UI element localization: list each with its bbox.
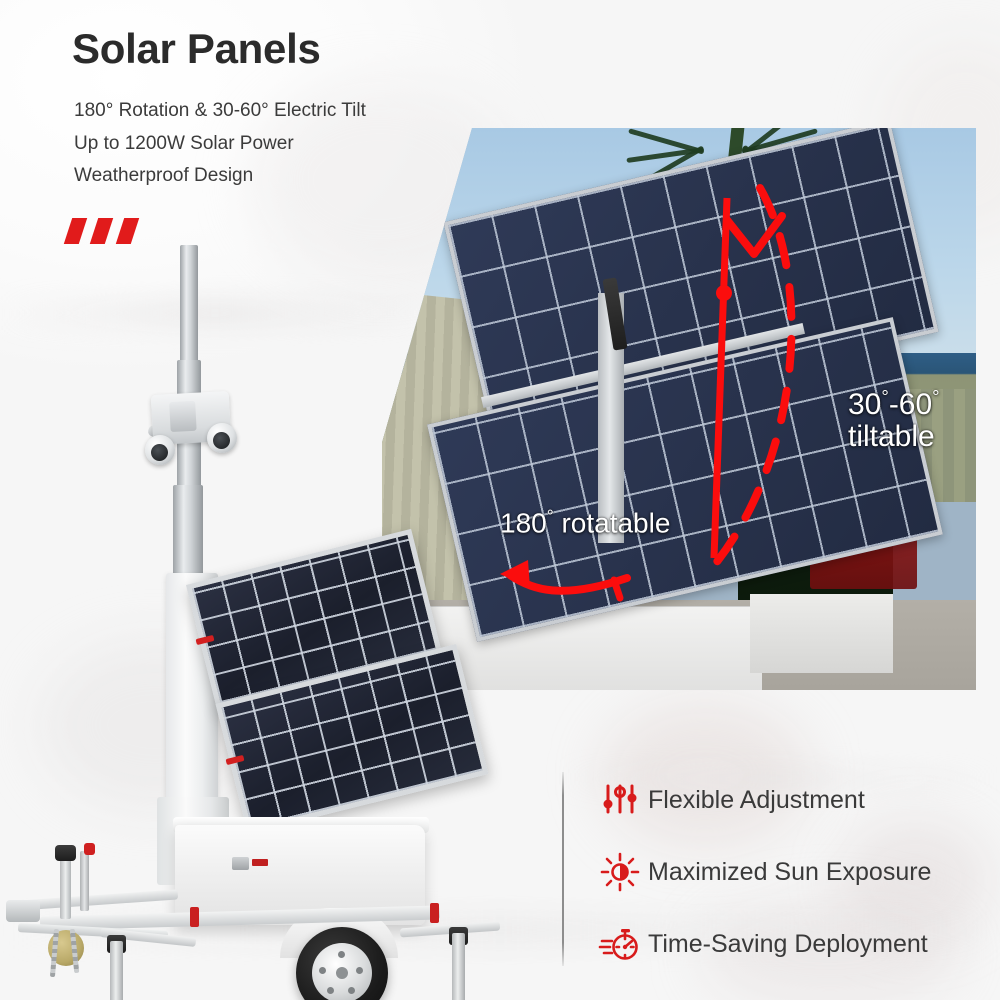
camera-lens-icon [151, 444, 168, 461]
camera-lens-icon [213, 432, 230, 449]
trailer-equipment-box-secondary [750, 594, 893, 673]
box-warning-label [252, 859, 268, 866]
safety-post [80, 851, 89, 911]
annotation-tilt-range: 30°-60° [848, 386, 940, 422]
degree-symbol: ° [881, 386, 888, 407]
sun-icon [592, 848, 648, 896]
degree-symbol: ° [547, 506, 554, 526]
subtitle-list: 180° Rotation & 30-60° Electric Tilt Up … [74, 95, 494, 193]
tilt-max: -60 [889, 388, 932, 421]
degree-symbol: ° [932, 386, 939, 407]
wheel-rim [312, 943, 372, 1000]
subtitle-line-2: Up to 1200W Solar Power [74, 128, 494, 161]
feature-item-time-saving-deployment: Time-Saving Deployment [592, 908, 992, 980]
sliders-icon [592, 776, 648, 824]
rotate-word: rotatable [554, 507, 671, 538]
wheel-lug [356, 967, 363, 974]
annotation-rotatable: 180° rotatable [500, 506, 670, 539]
feature-label: Time-Saving Deployment [648, 930, 928, 959]
tilt-min: 30 [848, 388, 881, 421]
wheel-hub [336, 967, 348, 979]
feature-label: Flexible Adjustment [648, 786, 865, 815]
feature-item-flexible-adjustment: Flexible Adjustment [592, 764, 992, 836]
hitch-coupler [6, 900, 40, 922]
feature-list: Flexible Adjustment Maximized Sun Exposu… [592, 764, 992, 980]
ptz-dome-camera-left [145, 435, 175, 465]
mast-section-top [180, 245, 198, 365]
subtitle-line-1: 180° Rotation & 30-60° Electric Tilt [74, 95, 494, 128]
red-pin-clip [190, 907, 199, 927]
feature-item-maximized-sun-exposure: Maximized Sun Exposure [592, 836, 992, 908]
stopwatch-icon [592, 920, 648, 968]
feature-list-divider [562, 772, 564, 966]
feature-label: Maximized Sun Exposure [648, 858, 931, 887]
box-latch [232, 857, 249, 870]
marketing-banner: Solar Panels 180° Rotation & 30-60° Elec… [0, 0, 1000, 1000]
thermal-lens [169, 401, 197, 432]
wheel-lug [338, 951, 345, 958]
wheel-lug [327, 987, 334, 994]
trailer-tongue-rail-upper [18, 889, 178, 910]
product-photo-trailer [0, 185, 520, 1000]
stabilizer-leg-right [452, 933, 465, 1000]
red-release-knob [84, 843, 95, 855]
page-title: Solar Panels [72, 28, 321, 70]
red-pin-clip [430, 903, 439, 923]
ptz-dome-camera-right [207, 423, 237, 453]
tongue-jack [60, 857, 71, 919]
wheel-lug [319, 967, 326, 974]
annotation-tiltable-word: tiltable [848, 420, 935, 454]
jack-handle-cap [55, 845, 76, 861]
stabilizer-leg-left [110, 941, 123, 1000]
wheel-lug [348, 987, 355, 994]
